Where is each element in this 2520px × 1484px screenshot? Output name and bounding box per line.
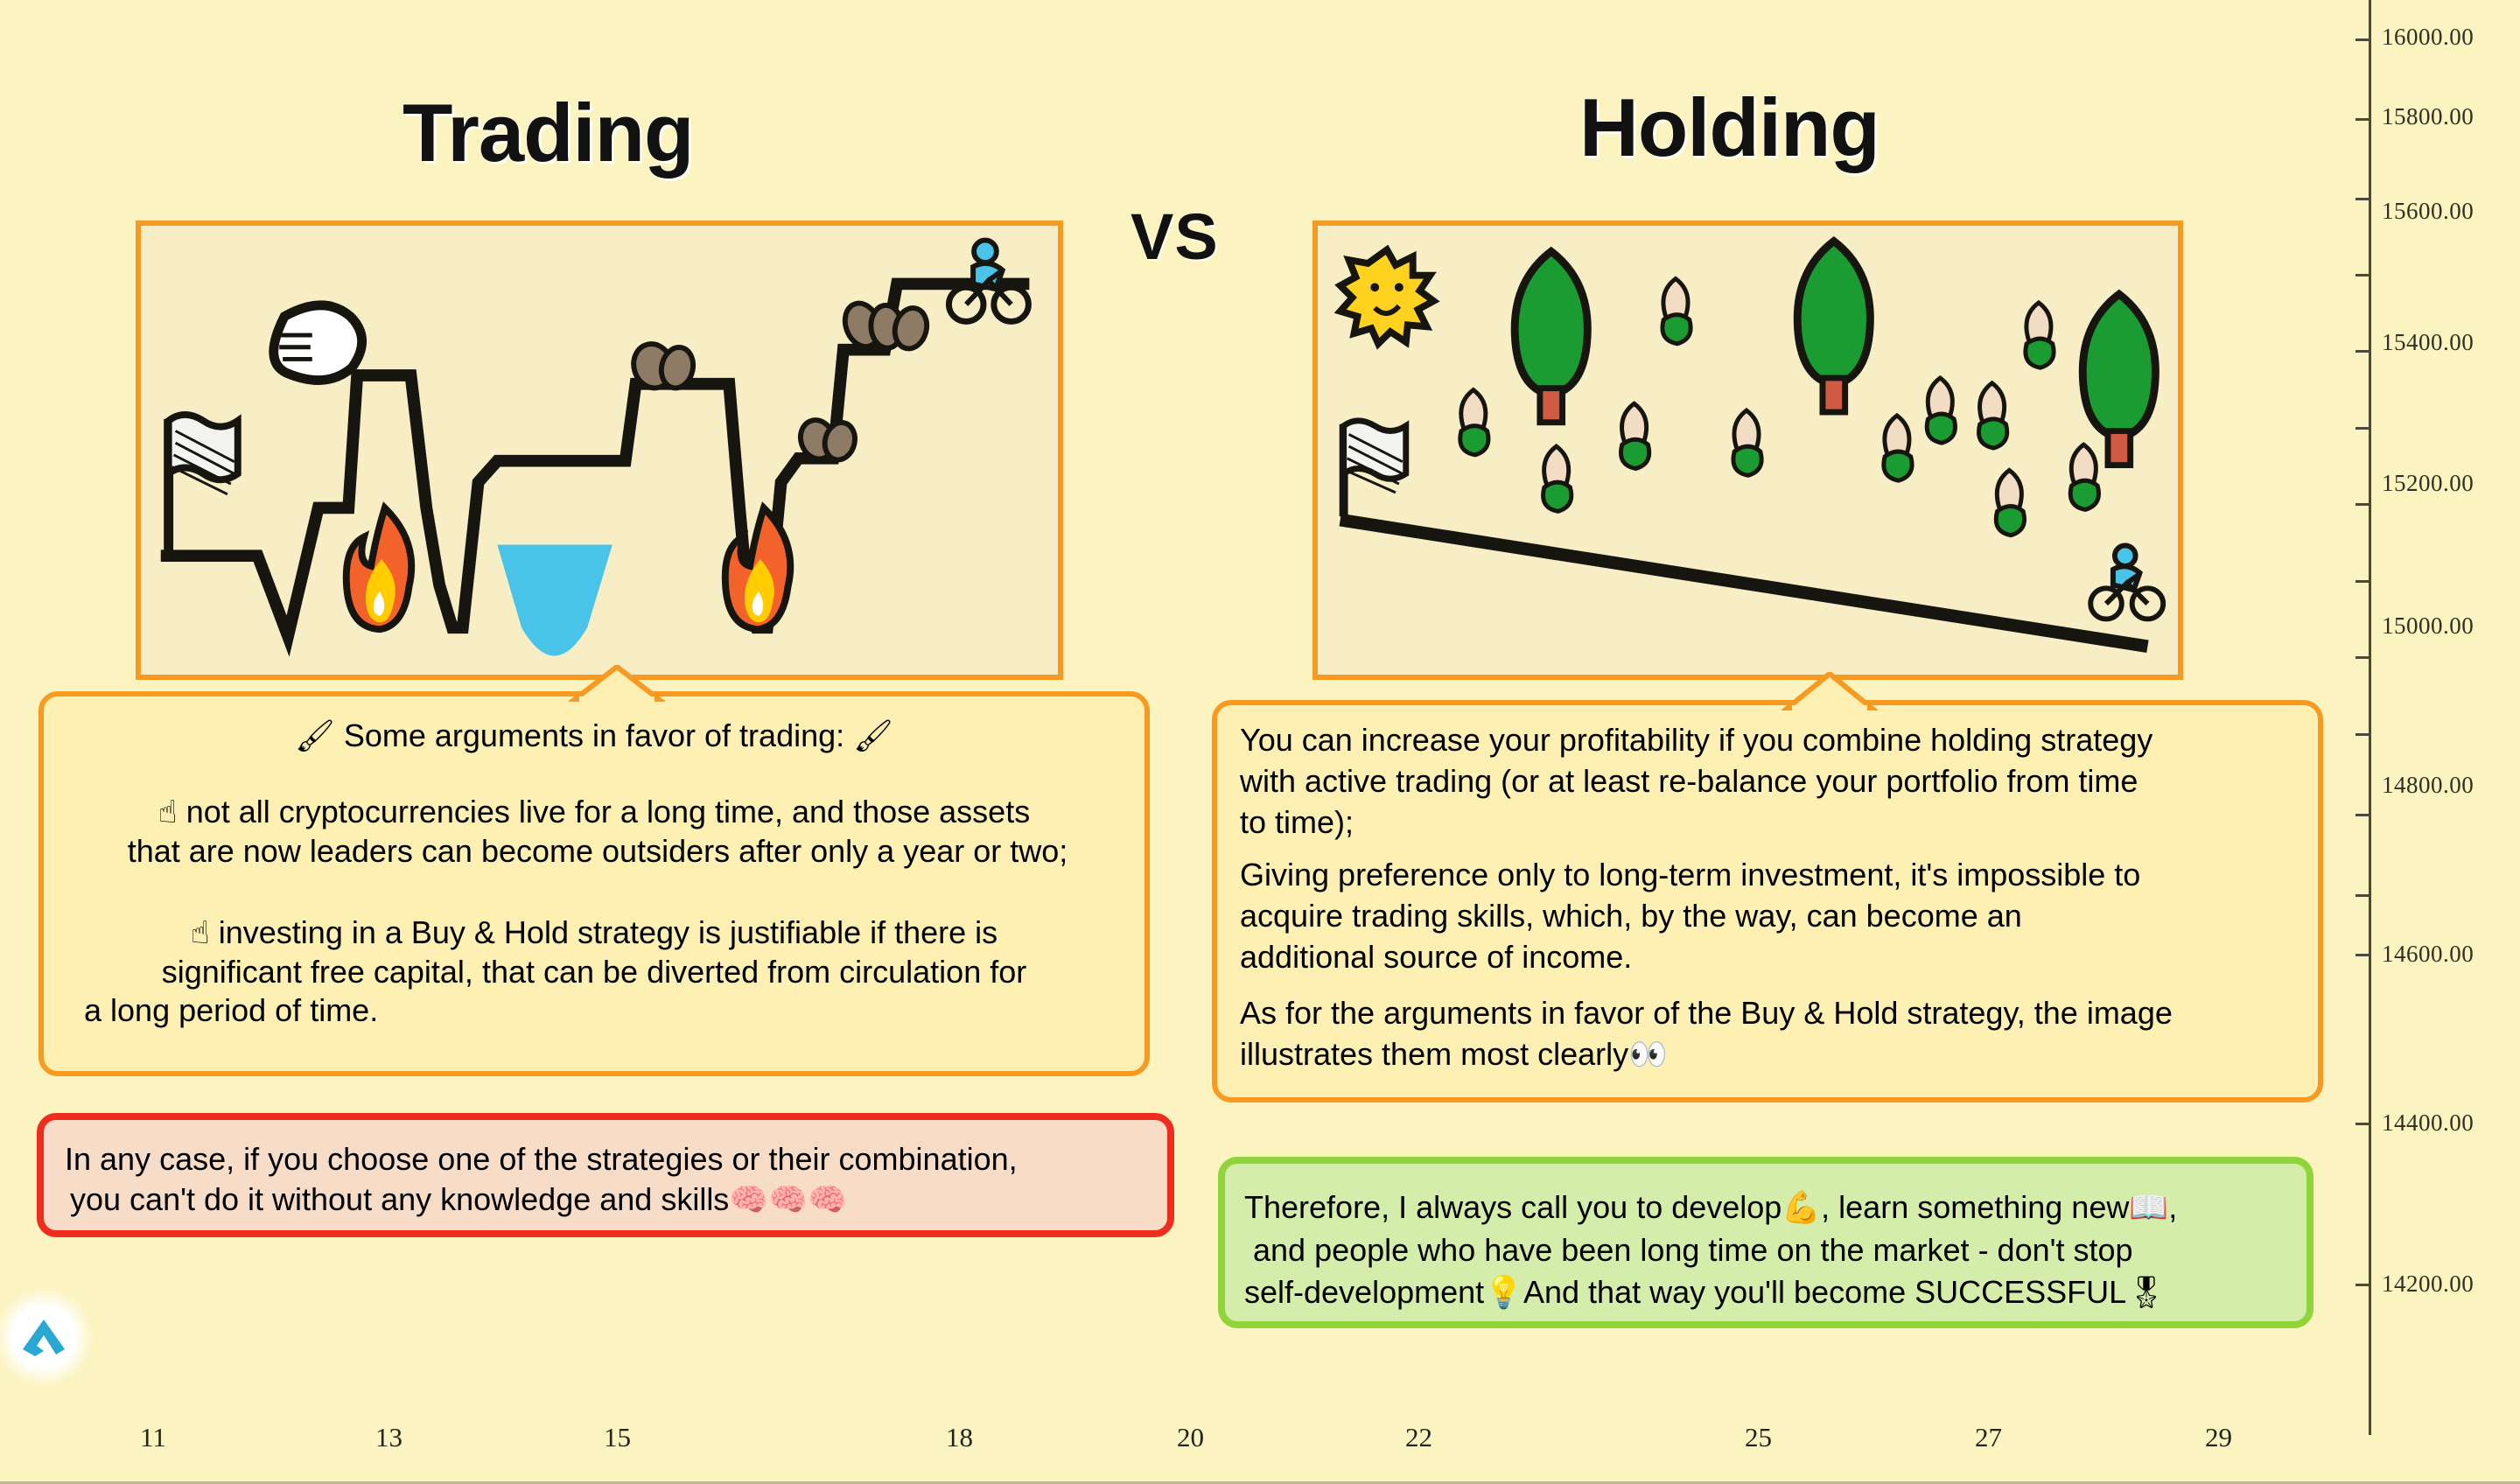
conclusion-comma: , <box>2168 1189 2177 1225</box>
eyes-icon: 👀 <box>1628 1037 1668 1073</box>
x-tick-label: 15 <box>604 1422 631 1453</box>
y-tick-label: 15600.00 <box>2382 198 2474 225</box>
x-tick-label: 11 <box>140 1422 166 1453</box>
conclusion-line-1: Therefore, I always call you to develop💪… <box>1244 1186 2177 1229</box>
y-tick <box>2355 198 2371 200</box>
trading-line-group <box>141 226 1058 675</box>
sprout-icon <box>1884 416 1912 480</box>
trading-arguments-heading: 🖌 Some arguments in favor of trading: 🖌 <box>44 717 1144 754</box>
x-tick-label: 20 <box>1177 1422 1204 1453</box>
bulb-icon: 💡 <box>1484 1275 1523 1311</box>
holding-p3-line-1: As for the arguments in favor of the Buy… <box>1240 992 2173 1033</box>
trading-arguments-heading-text: Some arguments in favor of trading: <box>344 717 844 753</box>
pen-nib-icon: 🖌 <box>853 718 893 754</box>
mountain-wave-logo-icon <box>10 1304 77 1370</box>
conclusion-line-3b: And that way you'll become SUCCESSFUL <box>1523 1274 2126 1310</box>
holding-p1-line-2: with active trading (or at least re-bala… <box>1240 760 2152 801</box>
x-tick-label: 29 <box>2205 1422 2232 1453</box>
holding-arguments-bubble: You can increase your profitability if y… <box>1212 700 2323 1102</box>
y-tick <box>2355 1123 2371 1125</box>
sprout-icon <box>1620 403 1648 468</box>
sprout-icon <box>2026 303 2054 367</box>
trading-argument-1-line-1: not all cryptocurrencies live for a long… <box>186 794 1030 829</box>
y-tick-label: 15400.00 <box>2382 329 2474 356</box>
conclusion-bubble: Therefore, I always call you to develop💪… <box>1218 1157 2313 1328</box>
y-tick-label: 14200.00 <box>2382 1270 2474 1298</box>
y-axis-line <box>2369 0 2371 1435</box>
y-tick <box>2355 38 2371 41</box>
y-tick <box>2355 427 2371 430</box>
warning-line-2-text: you can't do it without any knowledge an… <box>65 1181 729 1217</box>
y-tick-label: 16000.00 <box>2382 24 2474 51</box>
trading-chart-drawing <box>141 226 1058 675</box>
warning-bubble: In any case, if you choose one of the st… <box>37 1113 1174 1237</box>
y-tick <box>2355 580 2371 583</box>
y-tick-label: 15800.00 <box>2382 103 2474 130</box>
conclusion-text: Therefore, I always call you to develop💪… <box>1244 1186 2177 1314</box>
holding-chart-drawing <box>1318 226 2178 675</box>
holding-p1-line-1: You can increase your profitability if y… <box>1240 719 2152 760</box>
trading-arguments-bubble: 🖌 Some arguments in favor of trading: 🖌 … <box>38 691 1150 1076</box>
warning-line-2: you can't do it without any knowledge an… <box>65 1179 1018 1221</box>
y-tick <box>2355 274 2371 276</box>
bubble-tail <box>1781 672 1878 710</box>
y-tick <box>2355 954 2371 956</box>
y-tick-label: 15000.00 <box>2382 612 2474 640</box>
holding-paragraph-3: As for the arguments in favor of the Buy… <box>1240 992 2173 1075</box>
y-tick-label: 14400.00 <box>2382 1109 2474 1137</box>
brand-logo[interactable] <box>10 1304 77 1370</box>
y-tick-label: 15200.00 <box>2382 470 2474 497</box>
x-tick-label: 22 <box>1405 1422 1432 1453</box>
pointing-hand-icon: ☝ <box>191 915 210 951</box>
page-title-holding: Holding <box>1579 80 1879 175</box>
y-tick <box>2355 503 2371 506</box>
y-tick <box>2355 350 2371 353</box>
y-tick-label: 14600.00 <box>2382 941 2474 968</box>
brain-icon: 🧠🧠🧠 <box>729 1182 846 1218</box>
holding-p3-line-2-text: illustrates them most clearly <box>1240 1036 1628 1072</box>
trophy-icon: 🎖 <box>2126 1275 2166 1311</box>
warning-text: In any case, if you choose one of the st… <box>65 1139 1018 1221</box>
y-tick <box>2355 1284 2371 1286</box>
holding-paragraph-1: You can increase your profitability if y… <box>1240 719 2152 843</box>
white-hand-icon <box>274 305 362 381</box>
page-title-trading: Trading <box>402 86 693 180</box>
versus-label: VS <box>1130 199 1219 274</box>
x-tick-label: 25 <box>1745 1422 1772 1453</box>
sprout-icon <box>1543 446 1571 511</box>
holding-illustration <box>1312 220 2183 680</box>
conclusion-line-3a: self-development <box>1244 1274 1484 1310</box>
sprout-icon <box>1996 470 2024 535</box>
holding-p2-line-3: additional source of income. <box>1240 936 2140 977</box>
holding-p1-line-3: to time); <box>1240 801 2152 843</box>
trading-argument-item-1: ☝ not all cryptocurrencies live for a lo… <box>44 793 1144 871</box>
sprout-icon <box>1733 410 1761 475</box>
y-tick <box>2355 118 2371 121</box>
sprout-icon <box>1927 378 1955 443</box>
holding-p2-line-1: Giving preference only to long-term inve… <box>1240 854 2140 895</box>
trading-argument-2-line-3: a long period of time. <box>44 991 1144 1030</box>
conclusion-line-1b: , learn something new <box>1821 1189 2129 1225</box>
holding-p2-line-2: acquire trading skills, which, by the wa… <box>1240 895 2140 936</box>
sprout-icon <box>2070 444 2098 509</box>
conclusion-line-1a: Therefore, I always call you to develop <box>1244 1189 1781 1225</box>
y-tick <box>2355 814 2371 816</box>
conclusion-line-2: and people who have been long time on th… <box>1244 1229 2177 1271</box>
pointing-hand-icon: ☝ <box>158 794 178 830</box>
warning-line-1: In any case, if you choose one of the st… <box>65 1139 1018 1179</box>
pen-nib-icon: 🖌 <box>295 718 335 754</box>
muscle-icon: 💪 <box>1781 1190 1821 1226</box>
y-tick <box>2355 894 2371 897</box>
holding-p3-line-2: illustrates them most clearly👀 <box>1240 1033 2173 1075</box>
y-tick-label: 14800.00 <box>2382 772 2474 799</box>
x-tick-label: 18 <box>946 1422 973 1453</box>
trading-illustration <box>136 220 1063 680</box>
sprout-icon <box>1662 279 1690 344</box>
trading-argument-2-line-1: investing in a Buy & Hold strategy is ju… <box>219 914 997 950</box>
holding-paragraph-2: Giving preference only to long-term inve… <box>1240 854 2140 977</box>
trading-argument-1-line-2: that are now leaders can become outsider… <box>44 832 1144 871</box>
conclusion-line-3: self-development💡And that way you'll bec… <box>1244 1271 2177 1314</box>
book-icon: 📖 <box>2129 1190 2168 1226</box>
sprout-icon <box>1460 390 1488 455</box>
trading-argument-item-2: ☝ investing in a Buy & Hold strategy is … <box>44 913 1144 1030</box>
y-tick <box>2355 656 2371 659</box>
x-tick-label: 13 <box>375 1422 402 1453</box>
screenshot-root: 16000.00 15800.00 15600.00 15400.00 1520… <box>0 0 2520 1484</box>
trading-argument-2-line-2: significant free capital, that can be di… <box>44 953 1144 991</box>
y-tick <box>2355 733 2371 736</box>
bubble-tail <box>569 665 665 702</box>
sprout-icon <box>1978 383 2006 448</box>
x-tick-label: 27 <box>1975 1422 2002 1453</box>
